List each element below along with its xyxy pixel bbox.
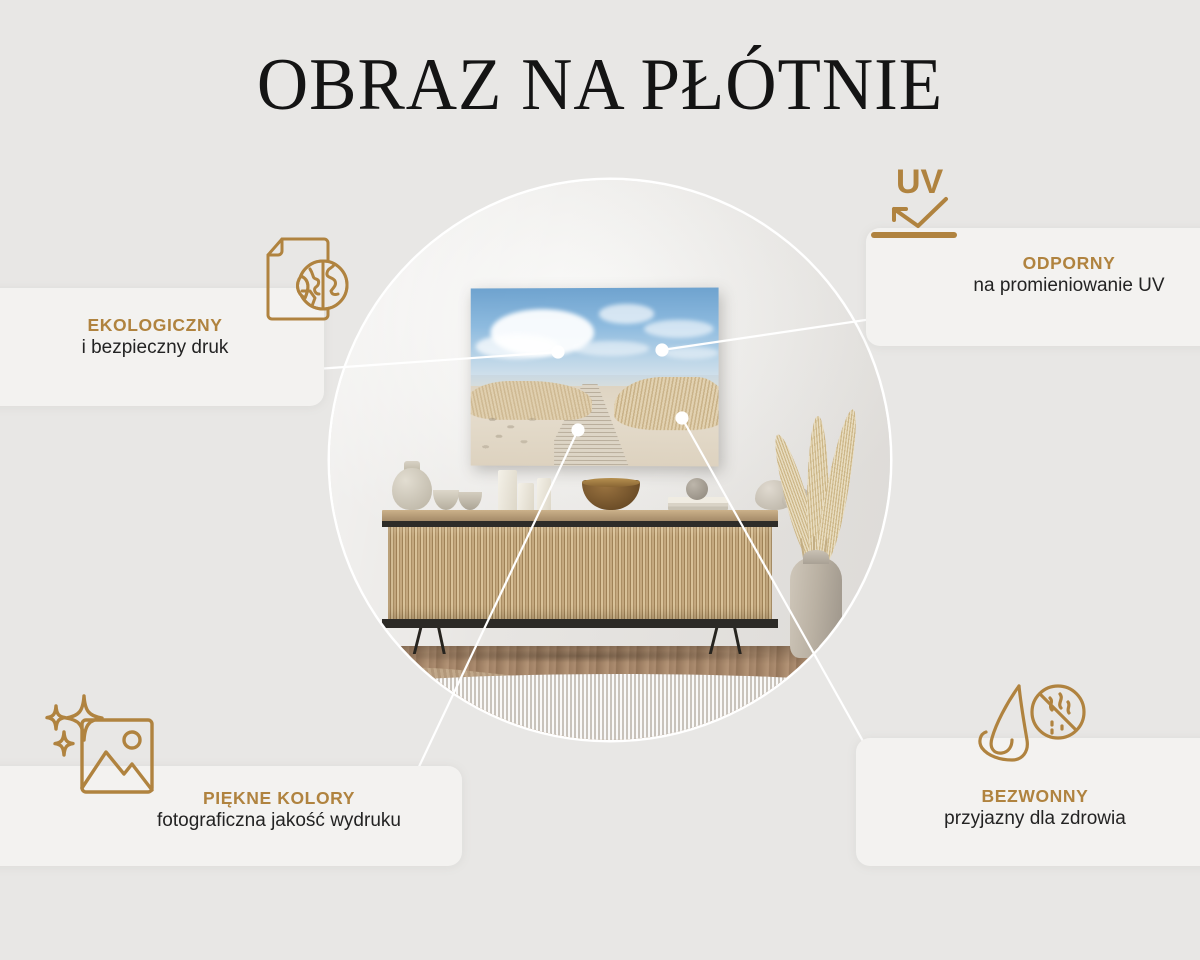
cloud — [644, 320, 714, 338]
feature-subtitle-odor: przyjazny dla zdrowia — [856, 807, 1200, 832]
interior-room-illustration — [330, 180, 890, 740]
artwork-footprints — [476, 409, 560, 462]
uv-resistance-icon: UV — [866, 163, 972, 245]
feature-subtitle-uv: na promieniowanie UV — [924, 274, 1200, 299]
canvas-artwork — [471, 288, 719, 467]
round-vase — [392, 468, 432, 510]
sideboard — [382, 510, 778, 650]
feature-text-colors: PIĘKNE KOLORY fotograficzna jakość wydru… — [0, 788, 462, 834]
feature-card-uv[interactable]: ODPORNY na promieniowanie UV — [866, 228, 1200, 346]
feature-title-odor: BEZWONNY — [856, 786, 1200, 807]
sideboard-shadow — [392, 650, 772, 662]
cloud — [664, 347, 719, 360]
uv-icon-label: UV — [896, 163, 944, 201]
cloud — [599, 304, 654, 324]
artwork-dune-grass-right — [614, 377, 719, 431]
page-title: OBRAZ NA PŁÓTNIE — [24, 48, 1176, 122]
cloud — [574, 341, 648, 355]
sideboard-fluted-front — [388, 527, 772, 621]
stone-sphere — [686, 478, 708, 500]
area-rug — [348, 674, 890, 740]
no-smell-nose-icon — [972, 682, 1086, 774]
document-leaf-globe-icon — [254, 233, 352, 331]
feature-subtitle-eco: i bezpieczny druk — [0, 336, 324, 361]
scene-circle — [330, 180, 890, 740]
candle — [518, 483, 534, 510]
sideboard-base — [382, 619, 778, 628]
feature-title-uv: ODPORNY — [924, 253, 1200, 274]
stone-floor-vase — [790, 558, 842, 658]
sparkle-photo-icon — [44, 694, 166, 794]
feature-subtitle-colors: fotograficzna jakość wydruku — [96, 809, 462, 834]
candle — [537, 478, 551, 510]
candle — [498, 470, 517, 510]
feature-text-uv: ODPORNY na promieniowanie UV — [866, 253, 1200, 299]
wooden-bowl-rim — [582, 478, 640, 487]
feature-text-odor: BEZWONNY przyjazny dla zdrowia — [856, 786, 1200, 832]
